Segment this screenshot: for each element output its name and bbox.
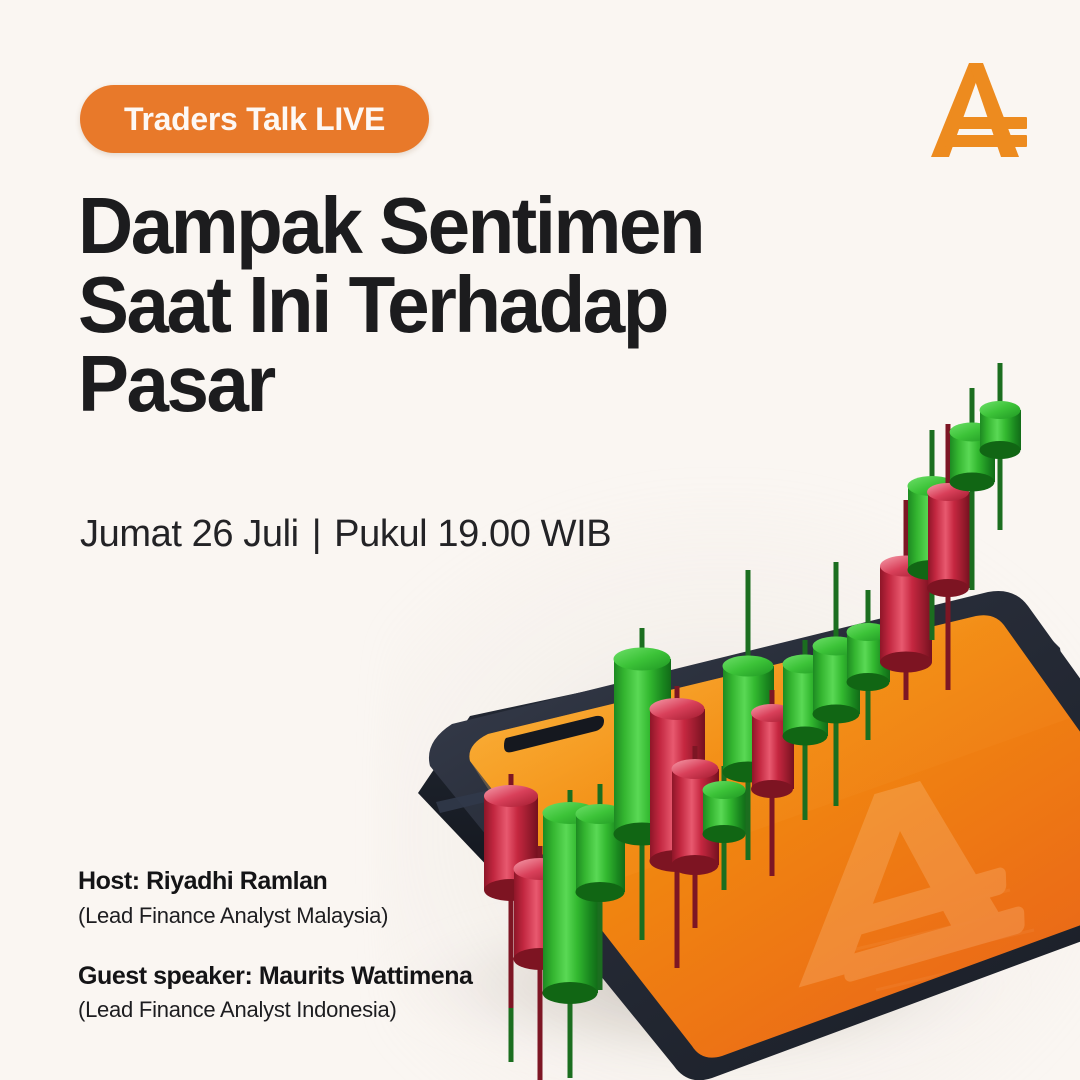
- event-separator: |: [312, 513, 321, 556]
- speaker-guest-name: Guest speaker: Maurits Wattimena: [78, 961, 598, 992]
- speaker-guest-role: (Lead Finance Analyst Indonesia): [78, 995, 598, 1025]
- event-datetime: Jumat 26 Juli | Pukul 19.00 WIB: [80, 513, 611, 556]
- page-title: Dampak Sentimen Saat Ini Terhadap Pasar: [78, 186, 838, 424]
- headline-line-1: Dampak Sentimen: [78, 186, 804, 265]
- event-time: Pukul 19.00 WIB: [334, 513, 611, 556]
- live-badge-label: Traders Talk LIVE: [124, 101, 385, 138]
- speaker-host-name: Host: Riyadhi Ramlan: [78, 866, 598, 897]
- speaker-host: Host: Riyadhi Ramlan (Lead Finance Analy…: [78, 866, 598, 931]
- speaker-guest: Guest speaker: Maurits Wattimena (Lead F…: [78, 961, 598, 1026]
- speaker-credits: Host: Riyadhi Ramlan (Lead Finance Analy…: [78, 866, 598, 1026]
- speaker-host-role: (Lead Finance Analyst Malaysia): [78, 901, 598, 931]
- live-badge[interactable]: Traders Talk LIVE: [80, 85, 429, 153]
- brand-a-logo-icon: [925, 55, 1035, 165]
- event-date: Jumat 26 Juli: [80, 513, 299, 556]
- poster-canvas: Traders Talk LIVE Dampak Sentimen Saat I…: [0, 0, 1080, 1080]
- headline-line-3: Pasar: [78, 344, 804, 423]
- headline-line-2: Saat Ini Terhadap: [78, 265, 804, 344]
